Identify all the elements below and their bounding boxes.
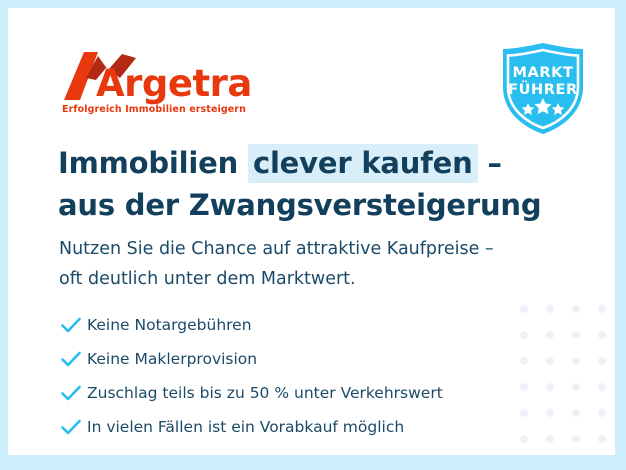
headline-part-1: Immobilien	[58, 146, 248, 180]
dot	[546, 409, 554, 417]
check-icon	[61, 419, 87, 435]
benefit-list: Keine Notargebühren Keine Maklerprovisio…	[61, 308, 531, 444]
dot	[598, 383, 606, 391]
shield-icon	[497, 41, 589, 136]
benefit-label: In vielen Fällen ist ein Vorabkauf mögli…	[87, 418, 404, 436]
dot	[546, 383, 554, 391]
dot	[572, 435, 580, 443]
logo-wordmark: Argetra	[96, 62, 252, 105]
dot	[572, 305, 580, 313]
headline-highlight: clever kaufen	[248, 144, 478, 183]
dot	[598, 331, 606, 339]
dot	[572, 357, 580, 365]
headline-line-2: aus der Zwangsversteigerung	[58, 186, 578, 224]
check-icon	[61, 317, 87, 333]
dot	[546, 331, 554, 339]
dot	[572, 409, 580, 417]
dot	[572, 331, 580, 339]
headline-part-2: –	[478, 146, 502, 180]
dot	[546, 435, 554, 443]
check-icon	[61, 351, 87, 367]
subheadline: Nutzen Sie die Chance auf attraktive Kau…	[59, 234, 579, 294]
argetra-logo[interactable]: Argetra Erfolgreich Immobilien ersteiger…	[60, 48, 250, 118]
dot	[572, 383, 580, 391]
dot	[598, 409, 606, 417]
subheadline-line-1: Nutzen Sie die Chance auf attraktive Kau…	[59, 234, 579, 264]
list-item: Zuschlag teils bis zu 50 % unter Verkehr…	[61, 376, 531, 410]
dot	[546, 305, 554, 313]
logo-tagline: Erfolgreich Immobilien ersteigern	[62, 104, 246, 115]
banner-card: Argetra Erfolgreich Immobilien ersteiger…	[8, 8, 615, 455]
list-item: In vielen Fällen ist ein Vorabkauf mögli…	[61, 410, 531, 444]
list-item: Keine Maklerprovision	[61, 342, 531, 376]
dot	[546, 357, 554, 365]
market-leader-badge: MARKT FÜHRER	[497, 41, 589, 136]
promo-banner: Argetra Erfolgreich Immobilien ersteiger…	[0, 0, 626, 470]
list-item: Keine Notargebühren	[61, 308, 531, 342]
dot-grid-decoration	[520, 305, 615, 455]
dot	[598, 357, 606, 365]
benefit-label: Keine Maklerprovision	[87, 350, 257, 368]
benefit-label: Zuschlag teils bis zu 50 % unter Verkehr…	[87, 384, 443, 402]
dot	[598, 305, 606, 313]
dot	[598, 435, 606, 443]
headline: Immobilien clever kaufen – aus der Zwang…	[58, 144, 578, 224]
benefit-label: Keine Notargebühren	[87, 316, 252, 334]
check-icon	[61, 385, 87, 401]
subheadline-line-2: oft deutlich unter dem Marktwert.	[59, 264, 579, 294]
